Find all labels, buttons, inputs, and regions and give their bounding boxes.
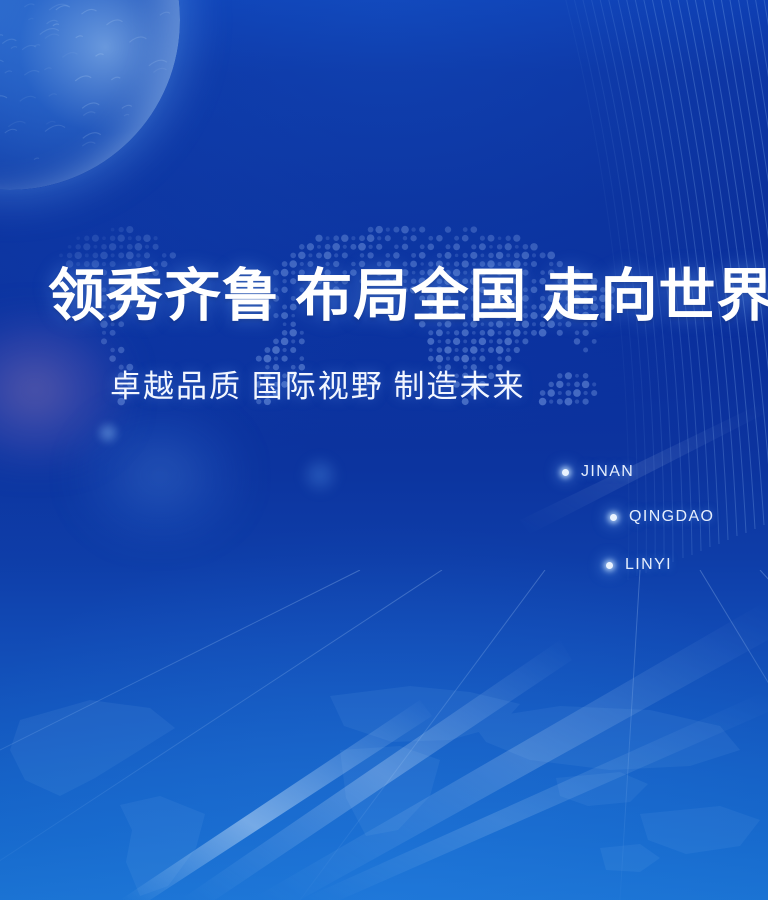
city-marker-qingdao: QINGDAO [610, 508, 714, 526]
city-marker-linyi: LINYI [606, 556, 672, 574]
city-marker-jinan: JINAN [562, 463, 634, 481]
city-label: LINYI [625, 556, 672, 574]
city-dot-icon [606, 562, 613, 569]
city-dot-icon [562, 469, 569, 476]
city-label: JINAN [581, 463, 634, 481]
city-dot-icon [610, 514, 617, 521]
page-title: 领秀齐鲁 布局全国 走向世界 [48, 268, 768, 325]
hero-banner: 领秀齐鲁 布局全国 走向世界 卓越品质 国际视野 制造未来 JINAN QING… [0, 0, 768, 900]
city-label: QINGDAO [629, 508, 714, 526]
light-streaks-icon [0, 0, 768, 900]
page-subtitle: 卓越品质 国际视野 制造未来 [110, 371, 526, 402]
